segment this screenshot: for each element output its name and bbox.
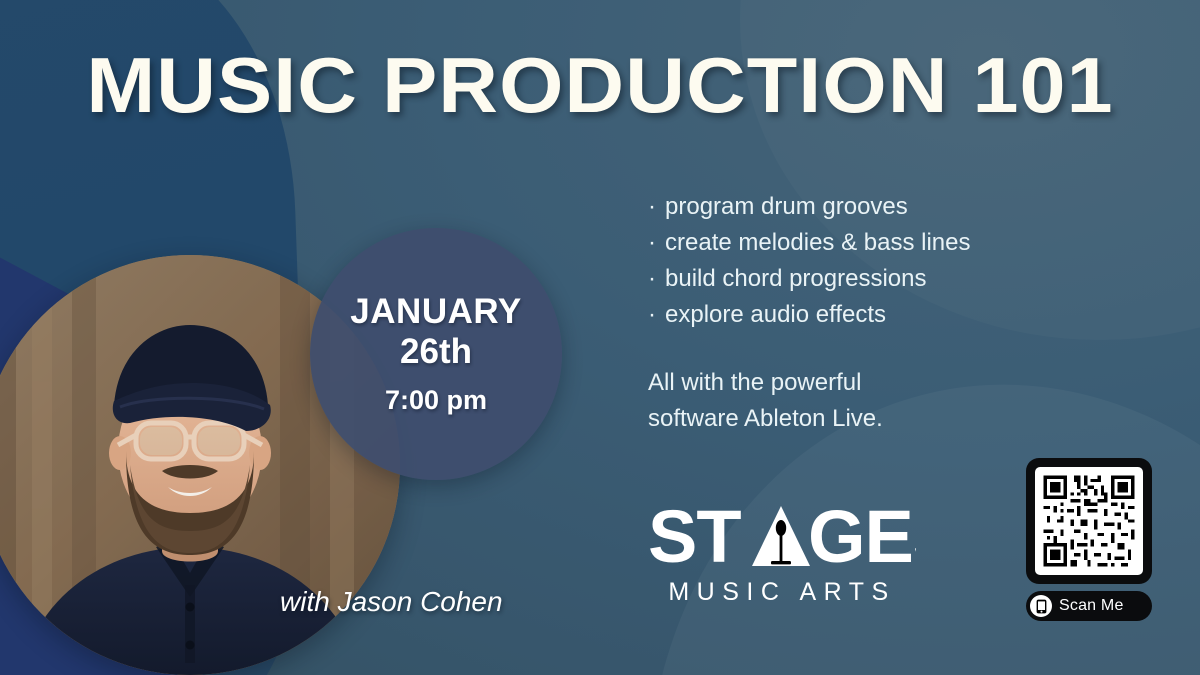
- bullet-icon: ·: [648, 193, 656, 220]
- presenter-credit: with Jason Cohen: [280, 586, 503, 618]
- qr-code-frame: [1026, 458, 1152, 584]
- stages-logo: ST GES MUSIC ARTS: [648, 500, 916, 608]
- qr-code-icon: [1040, 472, 1138, 570]
- scan-me-button[interactable]: Scan Me: [1026, 591, 1152, 621]
- blurb-line-1: All with the powerful: [648, 365, 883, 401]
- logo-letters-ges: GES: [808, 500, 916, 578]
- event-day: 26th: [400, 332, 472, 371]
- event-time: 7:00 pm: [385, 385, 487, 416]
- list-item: ·build chord progressions: [648, 261, 970, 297]
- logo-letters-st: ST: [648, 500, 741, 578]
- bullet-icon: ·: [648, 265, 656, 292]
- blurb-line-2: software Ableton Live.: [648, 401, 883, 437]
- software-blurb: All with the powerful software Ableton L…: [648, 365, 883, 437]
- bullet-icon: ·: [648, 229, 656, 256]
- scan-me-label: Scan Me: [1059, 597, 1124, 615]
- list-item: ·create melodies & bass lines: [648, 225, 970, 261]
- bullet-icon: ·: [648, 301, 656, 328]
- phone-glyph: [1036, 599, 1047, 614]
- qr-code-field: [1035, 467, 1143, 575]
- event-month: JANUARY: [350, 292, 521, 331]
- list-item-label: program drum grooves: [665, 193, 908, 220]
- list-item-label: explore audio effects: [665, 301, 886, 328]
- list-item: ·program drum grooves: [648, 189, 970, 225]
- stages-logo-mark: ST GES MUSIC ARTS: [648, 500, 916, 608]
- page-title: MUSIC PRODUCTION 101: [0, 40, 1200, 131]
- mobile-phone-icon: [1030, 595, 1052, 617]
- list-item-label: build chord progressions: [665, 265, 926, 292]
- event-date-badge: JANUARY 26th 7:00 pm: [310, 228, 562, 480]
- topics-list: ·program drum grooves ·create melodies &…: [648, 189, 970, 333]
- list-item-label: create melodies & bass lines: [665, 229, 970, 256]
- list-item: ·explore audio effects: [648, 297, 970, 333]
- event-poster: MUSIC PRODUCTION 101: [0, 0, 1200, 675]
- qr-code-block[interactable]: Scan Me: [1026, 458, 1152, 621]
- logo-tagline: MUSIC ARTS: [668, 578, 895, 606]
